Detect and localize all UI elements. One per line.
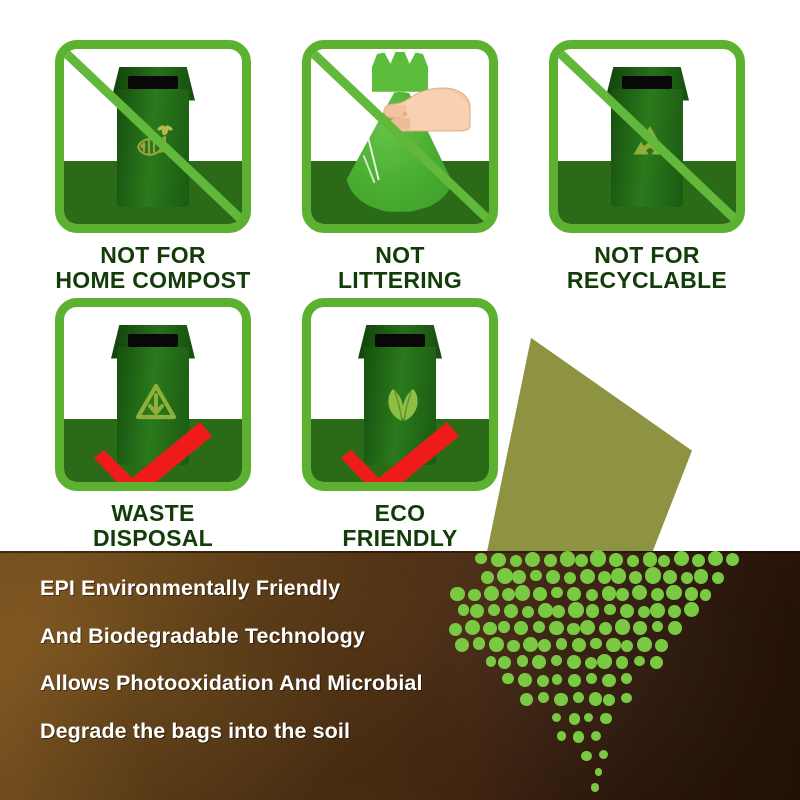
icon-label-waste-disposal: WASTE DISPOSAL — [38, 501, 268, 551]
two-leaves-icon — [379, 379, 421, 421]
icon-label-line1: NOT FOR — [594, 242, 700, 268]
soil-surface-line — [0, 551, 800, 553]
banner-text-block: EPI Environmentally Friendly And Biodegr… — [40, 578, 470, 768]
icon-label-line1: NOT FOR — [100, 242, 206, 268]
icon-label-line2: HOME COMPOST — [38, 268, 268, 293]
icon-label-not-for-home-compost: NOT FOR HOME COMPOST — [38, 243, 268, 293]
banner-line-1: EPI Environmentally Friendly — [40, 578, 470, 600]
icon-label-line1: ECO — [375, 500, 426, 526]
icon-frame — [549, 40, 745, 233]
icon-label-line1: NOT — [375, 242, 424, 268]
icon-label-line2: RECYCLABLE — [532, 268, 762, 293]
icon-label-eco-friendly: ECO FRIENDLY — [285, 501, 515, 551]
icon-label-line2: LITTERING — [285, 268, 515, 293]
icon-label-not-littering: NOT LITTERING — [285, 243, 515, 293]
red-checkmark-icon — [335, 416, 465, 491]
bin-slot — [622, 76, 672, 89]
icon-frame — [302, 298, 498, 491]
icon-frame — [55, 298, 251, 491]
icon-card-not-for-home-compost[interactable]: NOT FOR HOME COMPOST — [38, 40, 268, 293]
icon-frame — [302, 40, 498, 233]
icon-card-not-for-recyclable[interactable]: NOT FOR RECYCLABLE — [532, 40, 762, 293]
icon-card-waste-disposal[interactable]: WASTE DISPOSAL — [38, 298, 268, 551]
bag-highlight — [366, 133, 380, 180]
red-checkmark-icon — [88, 416, 218, 491]
banner-line-4: Degrade the bags into the soil — [40, 721, 470, 743]
bin-slot — [128, 76, 178, 89]
bin-slot — [375, 334, 425, 347]
banner-line-2: And Biodegradable Technology — [40, 626, 470, 648]
icon-frame — [55, 40, 251, 233]
infographic-poster: NOT FOR HOME COMPOST — [0, 0, 800, 800]
icon-label-line1: WASTE — [111, 500, 194, 526]
bin-slot — [128, 334, 178, 347]
icon-label-line2: DISPOSAL — [38, 526, 268, 551]
triangle-arrow-disposal-icon — [132, 379, 174, 421]
icon-label-not-for-recyclable: NOT FOR RECYCLABLE — [532, 243, 762, 293]
icon-card-eco-friendly[interactable]: ECO FRIENDLY — [285, 298, 515, 551]
icon-label-line2: FRIENDLY — [285, 526, 515, 551]
banner-line-3: Allows Photooxidation And Microbial — [40, 673, 470, 695]
icon-card-not-littering[interactable]: NOT LITTERING — [285, 40, 515, 293]
